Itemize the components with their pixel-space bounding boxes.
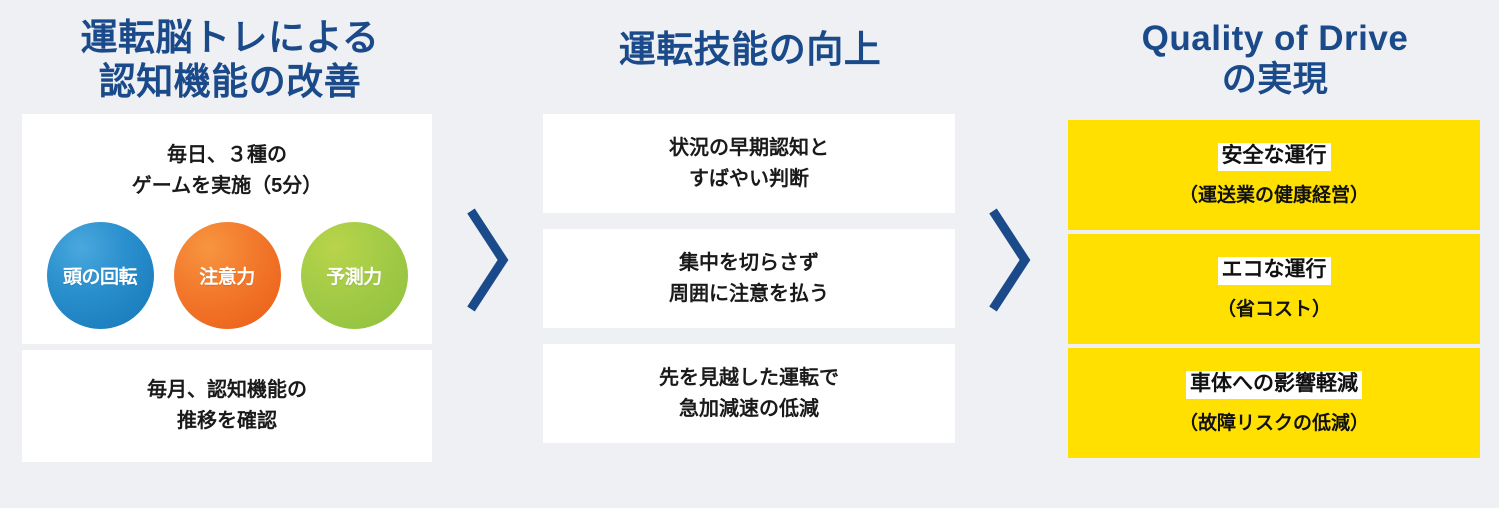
outcome-subtitle: （省コスト） [1217,294,1331,321]
skill-item-text: 先を見越した運転で 急加減速の低減 [659,363,839,425]
outcome-title: 安全な運行 [1218,143,1331,170]
outcome-title: 車体への影響軽減 [1186,371,1362,398]
panel-daily-training: 毎日、３種の ゲームを実施（5分） 頭の回転 注意力 予測力 [22,114,432,344]
outcome-title: エコな運行 [1218,257,1331,284]
skill-circle-row: 頭の回転 注意力 予測力 [22,222,432,329]
skill-item-text: 集中を切らさず 周囲に注意を払う [669,248,829,310]
panel-outcome-safe-driving: 安全な運行 （運送業の健康経営） [1068,120,1480,230]
panel-outcome-eco-driving: エコな運行 （省コスト） [1068,234,1480,344]
monthly-tracking-text: 毎月、認知機能の 推移を確認 [147,375,307,437]
skill-circle-label: 予測力 [326,262,382,289]
column-heading-quality-of-drive: Quality of Drive の実現 [1060,18,1490,101]
panel-skill-anticipatory-driving: 先を見越した運転で 急加減速の低減 [543,344,955,443]
skill-circle-label: 注意力 [199,262,255,289]
outcome-subtitle: （運送業の健康経営） [1179,180,1369,207]
panel-skill-sustained-attention: 集中を切らさず 周囲に注意を払う [543,229,955,328]
daily-training-text: 毎日、３種の ゲームを実施（5分） [132,140,323,202]
diagram-canvas: 運転脳トレによる 認知機能の改善 毎日、３種の ゲームを実施（5分） 頭の回転 … [0,0,1499,508]
skill-item-text: 状況の早期認知と すばやい判断 [669,133,829,195]
skill-circle-yosokuryoku: 予測力 [301,222,408,329]
chevron-right-icon [985,205,1033,315]
panel-outcome-vehicle-wear: 車体への影響軽減 （故障リスクの低減） [1068,348,1480,458]
skill-circle-label: 頭の回転 [63,262,137,289]
column-heading-cognition: 運転脳トレによる 認知機能の改善 [10,16,450,103]
chevron-right-icon [463,205,511,315]
column-heading-driving-skill: 運転技能の向上 [540,28,960,72]
panel-monthly-tracking: 毎月、認知機能の 推移を確認 [22,350,432,462]
panel-skill-early-recognition: 状況の早期認知と すばやい判断 [543,114,955,213]
skill-circle-chuiryoku: 注意力 [174,222,281,329]
outcome-subtitle: （故障リスクの低減） [1179,408,1369,435]
skill-circle-atama-no-kaiten: 頭の回転 [47,222,154,329]
